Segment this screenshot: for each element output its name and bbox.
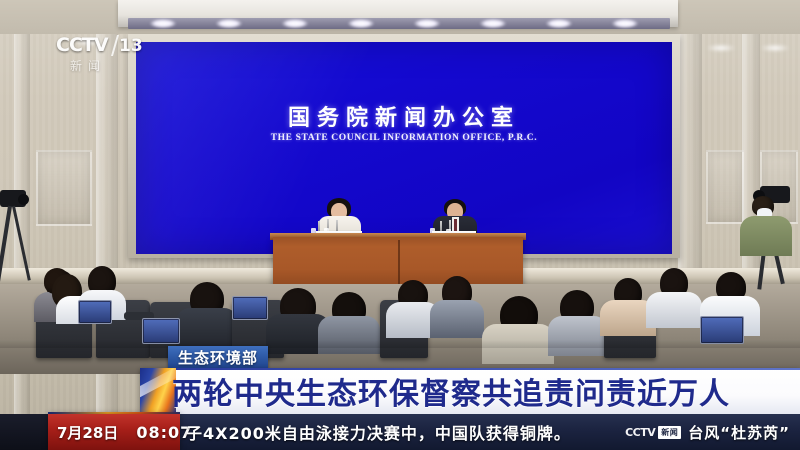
ceiling-bulb (348, 19, 374, 28)
cctv-wordmark: CCTV (56, 34, 108, 56)
headline-text: 两轮中央生态环保督察共追责问责近万人 (172, 369, 730, 413)
department-label: 生态环境部 (178, 347, 258, 368)
laptop-screen (144, 320, 178, 342)
screen-title-chinese: 国务院新闻办公室 (136, 100, 672, 132)
audience-laptop (78, 300, 112, 324)
cctv-news-wordmark: CCTV (625, 426, 655, 439)
channel-number: 13 (119, 36, 143, 56)
ceiling-light-bar (128, 18, 670, 29)
ceiling-bulb (480, 19, 506, 28)
ticker-left-cap (0, 414, 48, 450)
ticker-right-group: CCTV 新闻 台风“杜苏芮” (625, 414, 790, 450)
ceiling-bulb (282, 19, 308, 28)
audience-shoulders (646, 292, 702, 328)
ceiling-bulb (612, 19, 638, 28)
camera-operator-body (740, 216, 792, 256)
channel-name-label: 新闻 (70, 57, 106, 74)
audience-laptop (232, 296, 268, 320)
ticker-typhoon-text: 台风“杜苏芮” (688, 422, 790, 443)
laptop-screen (234, 298, 266, 318)
ceiling-bulb (216, 19, 242, 28)
cctv-news-logo: CCTV 新闻 (625, 426, 681, 439)
camera-lens-left (18, 194, 29, 205)
department-bar: 生态环境部 (168, 346, 268, 368)
broadcast-screenshot: 国务院新闻办公室 THE STATE COUNCIL INFORMATION O… (0, 0, 800, 450)
laptop-screen (80, 302, 110, 322)
ceiling-spotlight (706, 44, 736, 52)
wall-panel-right-a (706, 150, 744, 224)
screen-sheen (136, 42, 672, 254)
audience-shoulders (430, 300, 484, 338)
wall-panel-left (36, 150, 92, 226)
ticker-headline-text: 子4X200米自由泳接力决赛中，中国队获得铜牌。 (186, 414, 571, 450)
ceiling-bulb (150, 19, 176, 28)
foreground-shadow (0, 340, 800, 348)
backdrop-screen: 国务院新闻办公室 THE STATE COUNCIL INFORMATION O… (136, 42, 672, 254)
audience-shoulders (318, 316, 380, 354)
ceiling-bulb (546, 19, 572, 28)
channel-bug-slash (111, 35, 119, 56)
channel-bug: CCTV 13 新闻 (56, 34, 148, 76)
screen-title-english: THE STATE COUNCIL INFORMATION OFFICE, P.… (136, 133, 672, 143)
headline-flourish-graphic (140, 368, 176, 414)
ceiling-spotlight (760, 44, 790, 52)
cctv-news-badge: 新闻 (658, 426, 681, 439)
ceiling-bulb (414, 19, 440, 28)
laptop-screen (702, 318, 742, 342)
datetime-box: 7月28日 08:07 (48, 414, 180, 450)
audience-shoulders (548, 316, 608, 356)
ticker-date: 7月28日 (48, 422, 127, 443)
